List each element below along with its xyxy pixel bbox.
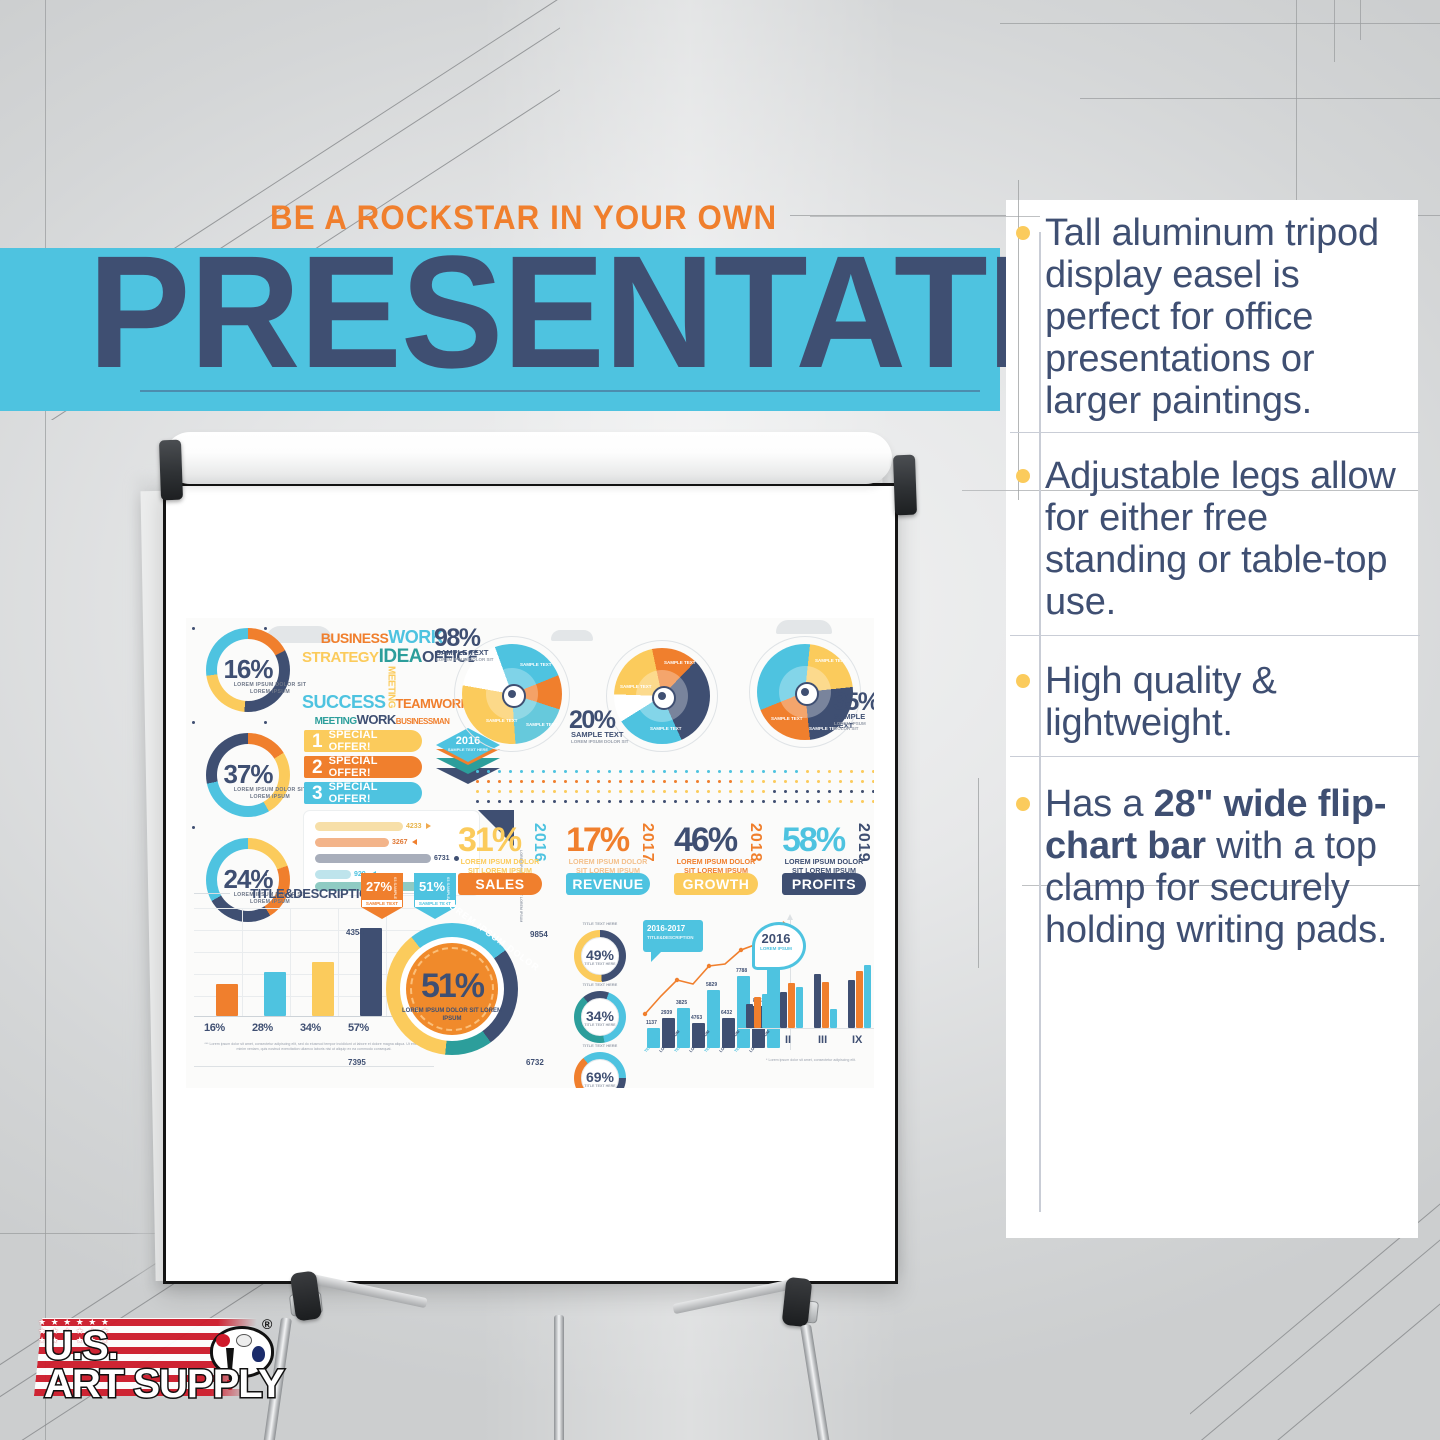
small-donut-34-value: 34% xyxy=(574,1008,626,1024)
cloud-shape xyxy=(776,620,832,634)
bar-28 xyxy=(264,972,286,1016)
hbar-1-value: 4233 xyxy=(406,823,422,830)
pie-slice-label: SAMPLE TEXT xyxy=(520,662,552,667)
pie-20-caption: SAMPLE TEXT xyxy=(571,730,624,739)
bar-III-blue xyxy=(830,1009,837,1028)
bar-16-label: 16% xyxy=(204,1022,225,1034)
small-donut-49-sub: TITLE TEXT HERE xyxy=(574,962,626,966)
divider xyxy=(1010,432,1420,433)
pie-98-caption: SAMPLE TEXT xyxy=(436,648,489,657)
small-donut-34-sub: TITLE TEXT HERE xyxy=(574,1023,626,1027)
special-offer-2-number: 2 xyxy=(312,758,323,777)
pie-slice-label: SAMPLE TEXT xyxy=(664,660,696,665)
grid-line xyxy=(290,908,291,1016)
big-donut-corner-9854: 9854 xyxy=(530,930,548,939)
bar-I-navy xyxy=(746,1004,753,1028)
pie-35-sub: LOREM IPSUM DOLOR SIT xyxy=(834,721,874,731)
dot-pattern-row-yellow xyxy=(476,790,874,793)
kpi-revenue-value: 17% xyxy=(566,823,628,857)
hbar-2 xyxy=(315,838,389,847)
donut-ring-16-value: 16% xyxy=(206,654,290,685)
pie-slice-label: SAMPLE TEXT xyxy=(620,684,652,689)
bar-34 xyxy=(312,962,334,1016)
hbar-1 xyxy=(315,822,403,831)
bullet-dot-icon xyxy=(1016,469,1030,483)
kpi-profits-value: 58% xyxy=(782,823,844,857)
grouped-bar-chart-2016: 2016 LOREM IPSUM I II xyxy=(738,918,874,1054)
special-offer-3[interactable]: 3 SPECIAL OFFER! xyxy=(304,782,422,804)
shield-badge-51-value: 51% xyxy=(417,879,447,894)
kpi-profits: 58% 2019 LOREM IPSUM DOLOR SIT LOREM IPS… xyxy=(782,823,874,895)
shield-badge-27-side: 03 SAMPLE xyxy=(393,877,398,899)
bullet-dot-icon xyxy=(1016,226,1030,240)
tick-dot xyxy=(264,627,267,630)
dot-pattern-row-orange xyxy=(476,780,874,783)
axis-label-IX: IX xyxy=(852,1034,862,1046)
tick-dot xyxy=(192,826,195,829)
special-offer-2-label: SPECIAL OFFER! xyxy=(329,755,422,779)
kpi-revenue-tag: REVENUE xyxy=(566,873,650,895)
pie-hub-dot-icon xyxy=(508,690,516,698)
kpi-sales-value: 31% xyxy=(458,823,520,857)
pie-20-sub: LOREM IPSUM DOLOR SIT xyxy=(571,739,629,744)
big-donut-value: 51% xyxy=(386,967,518,1006)
small-donut-49-toplabel: TITLE TEXT HERE xyxy=(574,921,626,926)
donut-ring-16: 16% LOREM IPSUM DOLOR SIT LOREM IPSUM xyxy=(206,628,290,712)
word-cloud-row: SUCCESSMEETINGTEAMWORK xyxy=(302,666,462,712)
word-cloud-word: MEETING xyxy=(386,666,396,708)
bar-28-label: 28% xyxy=(252,1022,273,1034)
adjustment-knob-right[interactable] xyxy=(782,1277,813,1327)
background-hairline xyxy=(1360,0,1361,40)
pie-slice-label: SAMPLE TEXT xyxy=(650,726,682,731)
grid-line xyxy=(242,908,243,1016)
big-donut-corner-6732: 6732 xyxy=(526,1058,544,1067)
bar-57 xyxy=(360,928,382,1016)
list-item: Has a 28" wide flip-chart bar with a top… xyxy=(1010,783,1420,951)
kpi-growth: 46% 2018 LOREM IPSUM DOLOR SIT LOREM IPS… xyxy=(674,823,782,895)
small-donut-49: 49% TITLE TEXT HERE xyxy=(574,930,626,982)
kpi-sales-tag: SALES xyxy=(458,873,542,895)
special-offer-3-number: 3 xyxy=(312,784,323,803)
pie-98-sub: LOREM IPSUM DOLOR SIT xyxy=(436,657,494,662)
list-item: Adjustable legs allow for either free st… xyxy=(1010,455,1420,623)
axis-label-I: I xyxy=(754,1034,757,1046)
hbar-4 xyxy=(315,870,351,879)
infographic-poster: 16% LOREM IPSUM DOLOR SIT LOREM IPSUM 37… xyxy=(186,618,874,1088)
divider xyxy=(1010,756,1420,757)
small-donut-69: 69% TITLE TEXT HERE xyxy=(574,1052,626,1088)
hbar-3 xyxy=(315,854,431,863)
background-hairline xyxy=(1080,98,1440,99)
special-offer-3-label: SPECIAL OFFER! xyxy=(329,781,422,805)
headline-underline xyxy=(140,390,980,392)
bullet-dot-icon xyxy=(1016,797,1030,811)
bar-IX-blue xyxy=(864,965,871,1028)
hbar-2-value: 3267 xyxy=(392,839,408,846)
tick-dot xyxy=(192,627,195,630)
registered-trademark-icon: ® xyxy=(262,1316,272,1332)
features-bullet-list: Tall aluminum tripod display easel is pe… xyxy=(1010,212,1420,951)
small-donut-69-toplabel: TITLE TEXT HERE xyxy=(574,1043,626,1048)
hbar-1-arrow-icon xyxy=(426,823,431,829)
bar-IX-navy xyxy=(848,980,855,1028)
word-cloud-word: BUSINESS xyxy=(321,631,389,645)
logo-line-2: ART SUPPLY xyxy=(44,1362,284,1407)
kpi-growth-value: 46% xyxy=(674,823,736,857)
kpi-revenue: 17% 2017 LOREM IPSUM DOLOR SIT LOREM IPS… xyxy=(566,823,674,895)
special-offer-1[interactable]: 1 SPECIAL OFFER! xyxy=(304,730,422,752)
bar-II-orange xyxy=(788,983,795,1028)
axis-label-II: II xyxy=(785,1034,791,1046)
feature-text-3: High quality & lightweight. xyxy=(1045,660,1420,744)
big-donut-sub: LOREM IPSUM DOLOR SIT LOREM IPSUM xyxy=(400,1007,504,1023)
special-offer-1-number: 1 xyxy=(312,732,323,751)
dot-pattern-row-navy xyxy=(476,800,874,803)
word-cloud-word: IDEA xyxy=(379,647,422,666)
heading-rule-left xyxy=(194,893,230,894)
word-cloud-row: MEETINGWORKBUSINESSMAN xyxy=(302,712,462,728)
hbar-3-value: 6731 xyxy=(434,855,450,862)
special-offer-2[interactable]: 2 SPECIAL OFFER! xyxy=(304,756,422,778)
shield-badge-51-side: 03 SAMPLE xyxy=(446,877,451,899)
tripod-leg-center xyxy=(554,1315,564,1440)
bar-III-navy xyxy=(814,974,821,1028)
word-cloud-word: STRATEGY xyxy=(302,650,379,665)
brand-logo: ★ ★ ★ ★ ★ ★★ ★ ★ ★ ★ ★★ ★ ★ ★ ★ ★ U.S. A… xyxy=(30,1310,280,1415)
word-cloud-word: SUCCESS xyxy=(302,693,386,711)
small-donut-69-sub: TITLE TEXT HERE xyxy=(574,1084,626,1088)
bar-I-orange xyxy=(754,997,761,1028)
small-donut-49-value: 49% xyxy=(574,947,626,963)
combo-bar-5-value: 5829 xyxy=(706,982,717,988)
bar-III-orange xyxy=(822,982,829,1028)
axis-label-III: III xyxy=(818,1034,827,1046)
shield-badge-27-sub: SAMPLE TEXT xyxy=(362,900,402,907)
tick-dot xyxy=(192,721,195,724)
donut-ring-37: 37% LOREM IPSUM DOLOR SIT LOREM IPSUM xyxy=(206,733,290,817)
kpi-growth-tag: GROWTH xyxy=(674,873,758,895)
dot-pattern-row-blue xyxy=(476,770,874,773)
pie-slice-label: SAMPLE TEXT xyxy=(771,716,803,721)
shield-badge-27-value: 27% xyxy=(364,879,394,894)
flip-chart-clamp-left xyxy=(159,440,183,501)
bullet-dot-icon xyxy=(1016,674,1030,688)
grid-line xyxy=(338,908,339,1016)
panel-connector-line xyxy=(810,216,1040,217)
combo-bar-6-value: 6432 xyxy=(721,1010,732,1016)
combo-bar-2-value: 2939 xyxy=(661,1010,672,1016)
pie-slice-label: SAMPLE TEXT xyxy=(815,658,847,663)
chart-2016-badge-year: 2016 xyxy=(752,931,800,946)
small-donut-34-toplabel: TITLE TEXT HERE xyxy=(574,982,626,987)
hbar-2-arrow-icon xyxy=(412,839,417,845)
footnote-rule xyxy=(194,1066,434,1067)
chart-2016-baseline xyxy=(738,1028,874,1029)
background-hairline xyxy=(1334,0,1335,62)
feature-text-1: Tall aluminum tripod display easel is pe… xyxy=(1045,212,1420,422)
word-cloud-word: WORK xyxy=(357,713,396,726)
background-hairline xyxy=(1000,23,1440,24)
bar-57-label: 57% xyxy=(348,1022,369,1034)
word-cloud-word: BUSINESSMAN xyxy=(396,718,450,726)
paper-pad-roll xyxy=(164,432,892,484)
bar-IX-orange xyxy=(856,971,863,1028)
pie-hub-dot-icon xyxy=(801,688,809,696)
background-hairline xyxy=(1296,0,1297,215)
panel-vertical-hairline xyxy=(978,778,979,968)
chart-2016-badge-sub: LOREM IPSUM xyxy=(752,946,800,951)
feature-text-4: Has a 28" wide flip-chart bar with a top… xyxy=(1045,783,1420,951)
pie-slice-label: SAMPLE TEXT xyxy=(486,718,518,723)
bar-16 xyxy=(216,984,238,1016)
combo-bar-3-value: 3825 xyxy=(676,1000,687,1006)
pie-hub-dot-icon xyxy=(658,692,666,700)
product-marketing-image: BE A ROCKSTAR IN YOUR OWN PRESENTATION 1… xyxy=(0,0,1440,1440)
bar-II-navy xyxy=(780,992,787,1028)
tick-dot xyxy=(264,721,267,724)
donut-ring-37-value: 37% xyxy=(206,759,290,790)
kpi-sales: 31% 2016 LOREM IPSUM DOLOR SIT LOREM IPS… xyxy=(458,823,566,895)
list-item: High quality & lightweight. xyxy=(1010,660,1420,744)
big-donut-corner-4354: 4354 xyxy=(346,928,364,937)
combo-bar-4-value: 4763 xyxy=(691,1015,702,1021)
small-donut-69-value: 69% xyxy=(574,1069,626,1085)
big-donut-corner-7395: 7395 xyxy=(348,1058,366,1067)
divider xyxy=(1010,635,1420,636)
grouped-chart-footnote: * Lorem ipsum dolor sit amet, consectetu… xyxy=(746,1058,874,1063)
feature-text-4-bold: 28" wide flip-chart bar xyxy=(1045,783,1386,867)
kpi-profits-tag: PROFITS xyxy=(782,873,866,895)
feature-text-2: Adjustable legs allow for either free st… xyxy=(1045,455,1420,623)
word-cloud-word: MEETING xyxy=(315,717,357,727)
tick-dot xyxy=(264,873,267,876)
special-offer-1-label: SPECIAL OFFER! xyxy=(329,729,422,753)
pie-slice-label: SAMPLE TEXT xyxy=(526,722,558,727)
list-item: Tall aluminum tripod display easel is pe… xyxy=(1010,212,1420,422)
bar-34-label: 34% xyxy=(300,1022,321,1034)
page-title: PRESENTATION xyxy=(88,232,952,392)
combo-bar-1-value: 1137 xyxy=(646,1020,657,1026)
flip-chart-clamp-right xyxy=(893,455,917,516)
bar-I-blue xyxy=(762,994,769,1028)
bar-II-blue xyxy=(796,987,803,1028)
small-donut-34: 34% TITLE TEXT HERE xyxy=(574,991,626,1043)
